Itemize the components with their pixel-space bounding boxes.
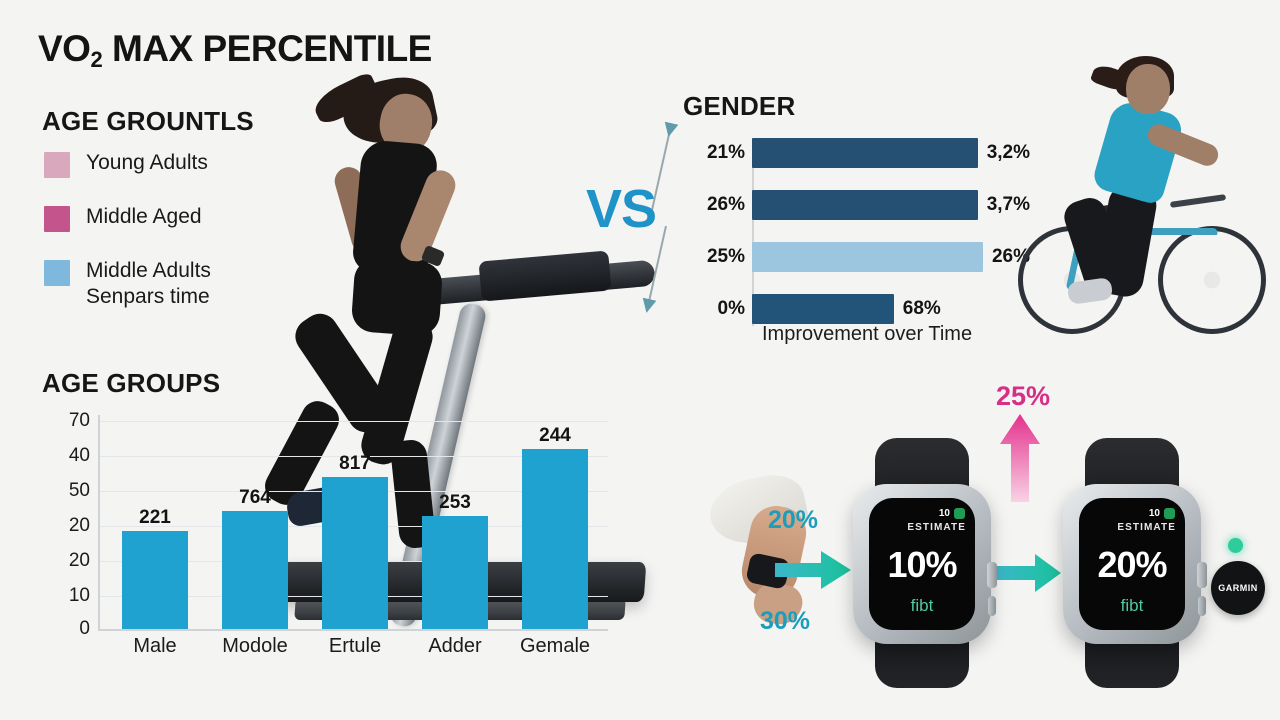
bar-column <box>522 449 588 629</box>
age-groups-bar-chart: 70 40 50 20 20 10 0 221 764 817 253 244 <box>36 415 616 655</box>
watch-side-button-icon[interactable] <box>988 596 996 616</box>
watch-estimate-label: ESTIMATE <box>907 522 966 533</box>
page-title: VO2 MAX PERCENTILE <box>38 28 432 70</box>
green-status-dot-icon <box>1228 538 1243 553</box>
smartwatch-after: 10 ESTIMATE 20% fibt <box>1057 438 1207 688</box>
watch-side-button-icon[interactable] <box>1198 596 1206 616</box>
watch-badge-dot-icon <box>954 508 965 519</box>
before-percent-label: 20% <box>768 506 818 535</box>
cyclist-photo <box>1010 58 1280 348</box>
bar-column <box>122 531 188 629</box>
legend-item-label: Middle Aged <box>86 204 202 230</box>
gender-row-left-label: 0% <box>700 298 752 320</box>
watch-badge-number: 10 <box>1149 508 1160 519</box>
y-tick-label: 40 <box>69 445 90 467</box>
bar-value-label: 253 <box>439 492 471 514</box>
x-axis-label: Modole <box>222 635 288 658</box>
teal-arrow-right-icon-2 <box>995 553 1061 593</box>
bar-value-label: 764 <box>239 487 271 509</box>
legend-item-text-block: Middle Adults Senpars time <box>86 258 211 310</box>
gridline <box>100 421 608 422</box>
bar-chart-plot-area: 221 764 817 253 244 Male Modole Ertule A… <box>98 415 608 631</box>
x-axis-label: Adder <box>428 635 481 658</box>
bar-value-label: 244 <box>539 425 571 447</box>
watch-screen[interactable]: 10 ESTIMATE 20% fibt <box>1079 498 1185 630</box>
legend-item-sublabel: Senpars time <box>86 284 211 310</box>
watch-brand-label: fibt <box>1079 596 1185 616</box>
x-axis-label: Ertule <box>329 635 381 658</box>
watch-badge: 10 <box>939 508 965 519</box>
page-title-rest: MAX PERCENTILE <box>102 28 432 69</box>
watch-case: 10 ESTIMATE 20% fibt <box>1063 484 1201 644</box>
y-tick-label: 20 <box>69 550 90 572</box>
smartwatch-before: 10 ESTIMATE 10% fibt <box>847 438 997 688</box>
page-title-main: VO <box>38 28 90 69</box>
below-percent-label: 30% <box>760 607 810 636</box>
bar-column <box>422 516 488 629</box>
gender-heading: GENDER <box>683 91 795 122</box>
cyclist-head <box>1126 64 1170 114</box>
pink-arrow-up-icon <box>998 412 1042 504</box>
gender-row-value: 68% <box>903 298 941 320</box>
garmin-badge-label: GARMIN <box>1218 583 1258 593</box>
x-axis-label: Gemale <box>520 635 590 658</box>
increase-percent-label: 25% <box>996 381 1050 412</box>
bicycle-handlebar <box>1170 194 1226 208</box>
gender-bar-wrap: 3,7% <box>752 190 1030 220</box>
y-axis-ticks: 70 40 50 20 20 10 0 <box>36 415 90 631</box>
gender-bar-row: 21% 3,2% <box>700 138 1030 168</box>
gender-row-left-label: 21% <box>700 142 752 164</box>
legend-heading: AGE GROUNTLS <box>42 106 254 137</box>
watch-badge-dot-icon <box>1164 508 1175 519</box>
bar-value-label: 221 <box>139 507 171 529</box>
watch-value: 20% <box>1079 544 1185 586</box>
teal-arrow-right-icon-1 <box>775 550 851 590</box>
gender-bar-row: 0% 68% <box>700 294 1030 324</box>
gender-bar <box>752 242 983 272</box>
page-title-subscript: 2 <box>90 47 102 72</box>
legend-item-label: Middle Adults <box>86 258 211 284</box>
vs-label: VS <box>586 179 656 239</box>
watch-screen[interactable]: 10 ESTIMATE 10% fibt <box>869 498 975 630</box>
legend-swatch-icon <box>44 260 70 286</box>
gender-bar <box>752 190 978 220</box>
gender-bar-chart: 21% 3,2% 26% 3,7% 25% 26% 0% 68% <box>700 138 1030 324</box>
watch-case: 10 ESTIMATE 10% fibt <box>853 484 991 644</box>
watch-estimate-label: ESTIMATE <box>1117 522 1176 533</box>
gender-bar-wrap: 68% <box>752 294 1030 324</box>
treadmill-console <box>479 250 612 301</box>
age-groups-heading: AGE GROUPS <box>42 368 220 399</box>
legend-swatch-icon <box>44 206 70 232</box>
garmin-badge: GARMIN <box>1211 561 1265 615</box>
x-axis-label: Male <box>133 635 176 658</box>
y-tick-label: 70 <box>69 410 90 432</box>
y-tick-label: 10 <box>69 585 90 607</box>
bar-value-label: 817 <box>339 453 371 475</box>
gender-row-left-label: 26% <box>700 194 752 216</box>
watch-badge: 10 <box>1149 508 1175 519</box>
gender-bar <box>752 294 894 324</box>
gender-bar <box>752 138 978 168</box>
watch-brand-label: fibt <box>869 596 975 616</box>
legend-swatch-icon <box>44 152 70 178</box>
legend-item-label: Young Adults <box>86 150 208 176</box>
vs-block: VS <box>586 178 656 240</box>
bar-column <box>322 477 388 629</box>
gender-bar-row: 26% 3,7% <box>700 190 1030 220</box>
watch-crown-icon[interactable] <box>1197 562 1207 588</box>
gender-bar-row: 25% 26% <box>700 242 1030 272</box>
watch-badge-number: 10 <box>939 508 950 519</box>
watch-value: 10% <box>869 544 975 586</box>
y-tick-label: 50 <box>69 480 90 502</box>
bar-column <box>222 511 288 629</box>
infographic-canvas: VO2 MAX PERCENTILE AGE GROUNTLS Young Ad… <box>0 0 1280 720</box>
gender-chart-caption: Improvement over Time <box>762 323 972 346</box>
y-tick-label: 0 <box>79 618 90 640</box>
gender-bar-wrap: 3,2% <box>752 138 1030 168</box>
watch-crown-icon[interactable] <box>987 562 997 588</box>
y-tick-label: 20 <box>69 515 90 537</box>
gender-row-left-label: 25% <box>700 246 752 268</box>
gender-bar-wrap: 26% <box>752 242 1030 272</box>
